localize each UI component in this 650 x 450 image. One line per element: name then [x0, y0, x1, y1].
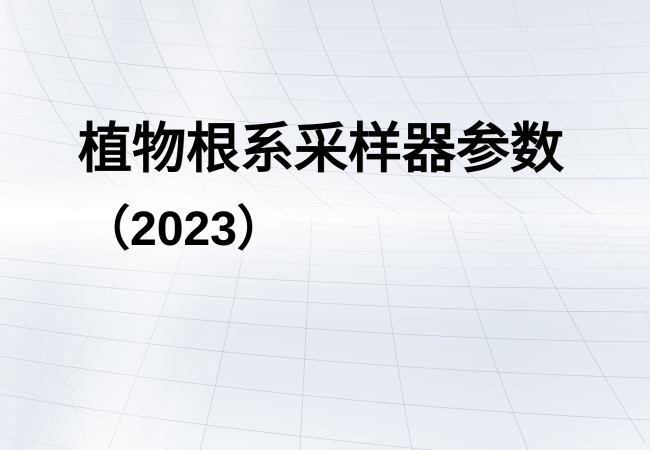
- title-slide: 植物根系采样器参数 （2023）: [0, 0, 650, 450]
- title-block: 植物根系采样器参数 （2023）: [0, 0, 650, 450]
- page-title: 植物根系采样器参数: [78, 122, 564, 176]
- page-subtitle-year: （2023）: [82, 206, 285, 254]
